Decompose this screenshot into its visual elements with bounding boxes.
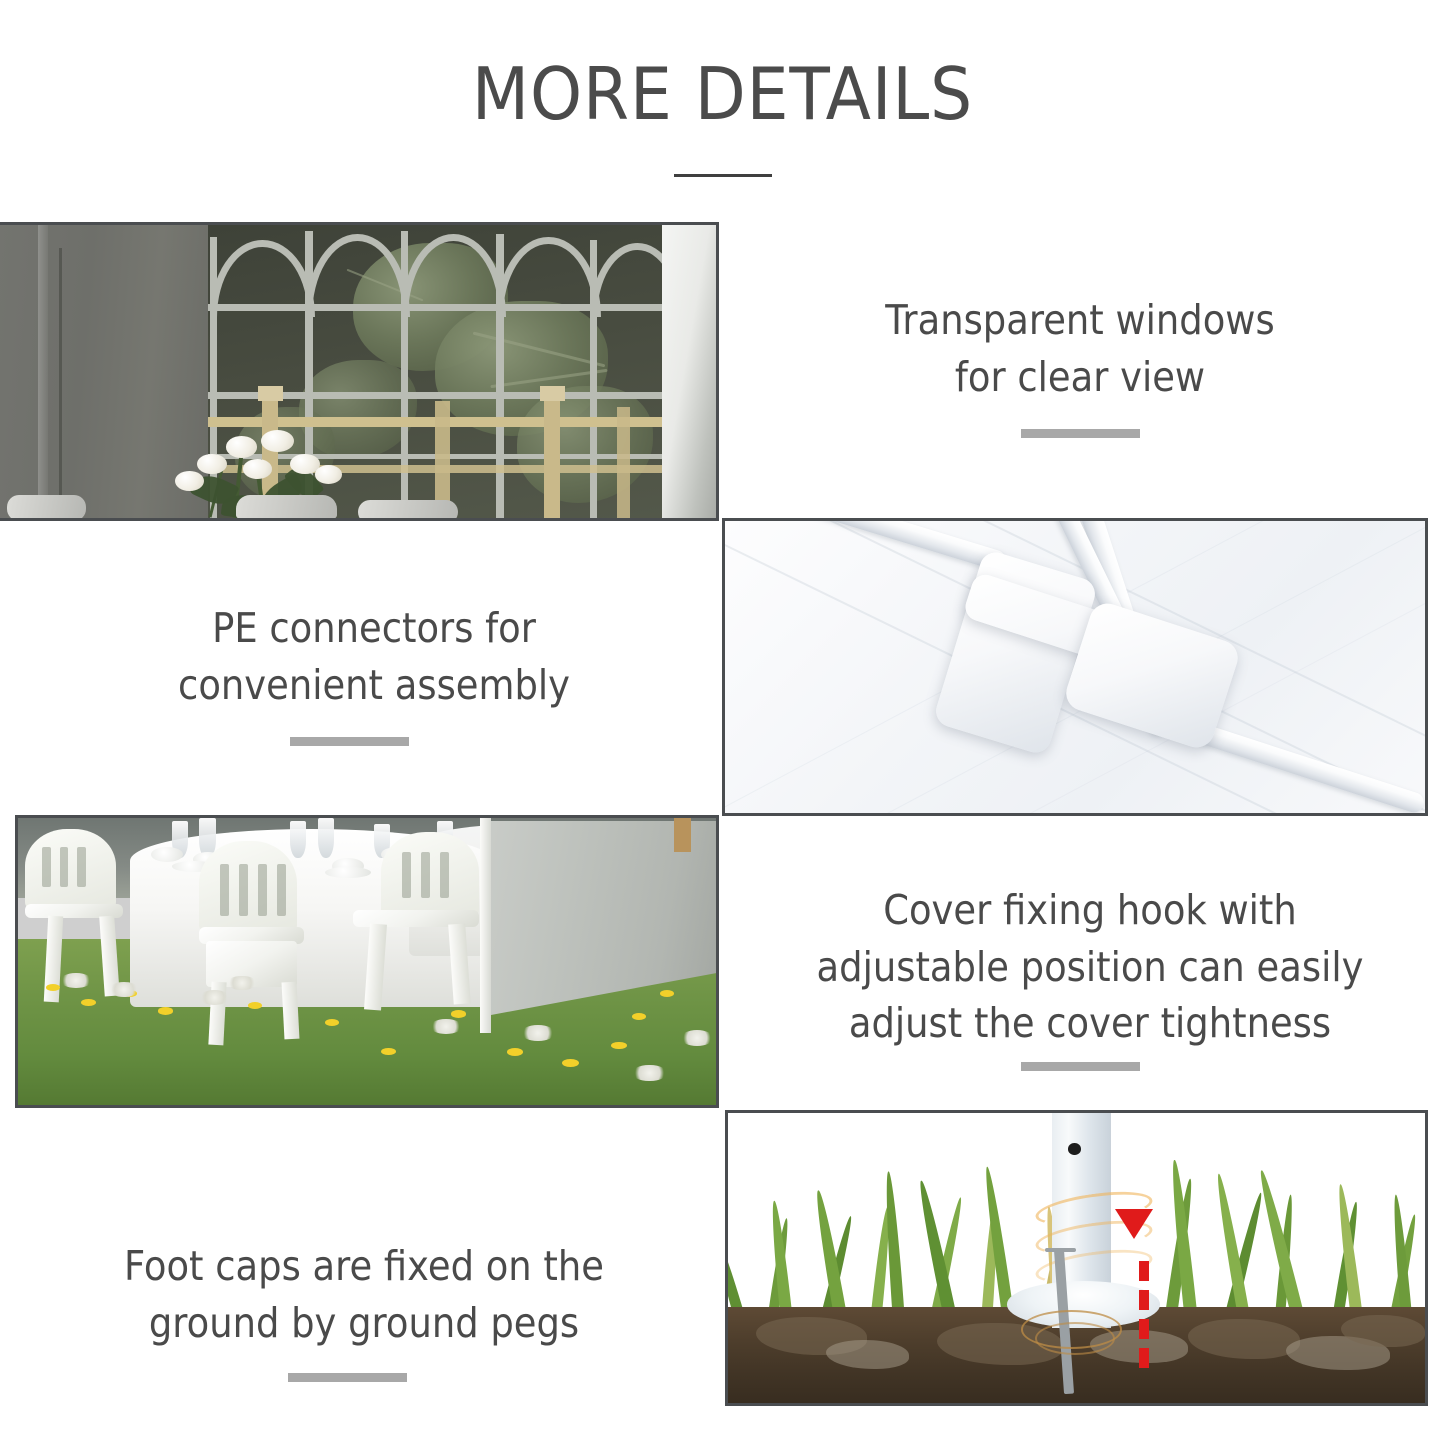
accent-bar-foot-caps xyxy=(288,1373,407,1382)
caption-line: ground by ground pegs xyxy=(99,1295,628,1352)
title-divider xyxy=(674,174,772,177)
canopy-wall-right xyxy=(662,225,716,518)
background-post xyxy=(674,818,691,852)
caption-foot-caps: Foot caps are fixed on the ground by gro… xyxy=(99,1238,628,1351)
ground-peg-hook xyxy=(1045,1248,1076,1252)
caption-pe-connectors: PE connectors for convenient assembly xyxy=(109,600,638,713)
caption-transparent-windows: Transparent windows for clear view xyxy=(815,292,1344,405)
accent-bar-transparent-windows xyxy=(1021,429,1140,438)
caption-line: for clear view xyxy=(815,349,1344,406)
leg-bolt-hole xyxy=(1068,1143,1081,1155)
accent-bar-cover-fixing-hook xyxy=(1021,1062,1140,1071)
photo-transparent-windows xyxy=(0,222,719,521)
direction-arrow-dash xyxy=(1139,1261,1149,1281)
caption-cover-fixing-hook: Cover fixing hook with adjustable positi… xyxy=(807,882,1372,1052)
page-title: MORE DETAILS xyxy=(58,52,1387,136)
canopy-wall-left xyxy=(0,225,208,518)
photo-garden-party xyxy=(15,815,719,1108)
direction-arrow-head xyxy=(1115,1209,1153,1239)
caption-line: Foot caps are fixed on the xyxy=(99,1238,628,1295)
caption-line: adjustable position can easily xyxy=(807,939,1372,996)
teacup xyxy=(151,847,183,862)
canopy-seam-shadow xyxy=(59,248,63,518)
caption-line: PE connectors for xyxy=(109,600,638,657)
direction-arrow-dash xyxy=(1139,1319,1149,1339)
photo-pe-connector xyxy=(722,518,1428,816)
caption-line: adjust the cover tightness xyxy=(807,995,1372,1052)
canopy-seam xyxy=(38,225,48,518)
direction-arrow-dash xyxy=(1139,1348,1149,1368)
caption-line: convenient assembly xyxy=(109,657,638,714)
direction-arrow-dash xyxy=(1139,1290,1149,1310)
wine-glass xyxy=(290,821,306,858)
accent-bar-pe-connectors xyxy=(290,737,409,746)
wine-glass xyxy=(318,818,334,858)
window-glass-area xyxy=(208,225,663,518)
gazebo-pole xyxy=(480,818,490,1033)
photo-ground-peg xyxy=(725,1110,1428,1406)
caption-line: Cover fixing hook with xyxy=(807,882,1372,939)
caption-line: Transparent windows xyxy=(815,292,1344,349)
